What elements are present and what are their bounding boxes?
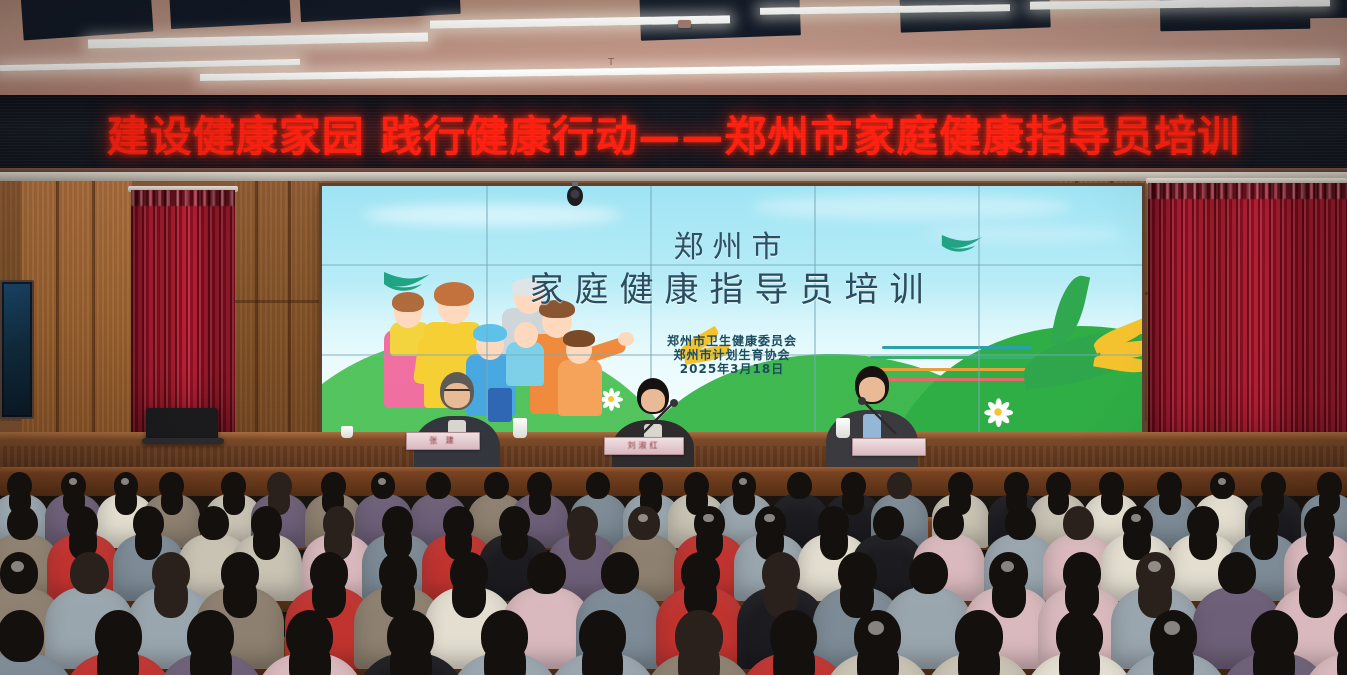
audience-head — [371, 472, 396, 499]
nameplate-center-text: 刘淑红 — [605, 438, 683, 453]
audience-head — [527, 552, 565, 594]
wall-wood-panel — [235, 181, 323, 451]
audience-head — [586, 472, 611, 499]
audience-head — [1063, 506, 1094, 540]
audience-head — [628, 506, 659, 540]
audience-head — [0, 610, 44, 662]
audience-head — [887, 472, 912, 499]
audience-head — [0, 552, 38, 594]
glasses-icon — [444, 389, 470, 397]
audience-member — [1303, 610, 1347, 675]
audience-hair — [97, 642, 139, 675]
audience-hair — [773, 642, 815, 675]
water-cup — [513, 418, 527, 438]
audience-head — [909, 552, 947, 594]
audience-head — [484, 472, 509, 499]
audience-hair — [678, 642, 720, 675]
audience-head — [601, 552, 639, 594]
audience-hair — [582, 642, 624, 675]
ceiling-mark: T — [608, 58, 614, 68]
audience-hair — [958, 642, 1000, 675]
wall-panel-seam — [56, 181, 59, 449]
screen-organizer-block: 郑州市卫生健康委员会 郑州市计划生育协会 2025年3月18日 — [322, 334, 1142, 376]
audience-head — [70, 552, 108, 594]
nameplate-right — [852, 438, 926, 456]
audience-member — [925, 610, 1034, 675]
wall-panel-seam — [255, 181, 258, 449]
audience-head — [1210, 472, 1235, 499]
wall-panel-seam — [288, 181, 291, 449]
audience-hair-tie — [1164, 621, 1180, 634]
audience-hair-tie — [764, 514, 775, 523]
wall-top-rail — [0, 172, 1347, 181]
audience-head — [787, 472, 812, 499]
organizer-line-2: 郑州市计划生育协会 — [322, 348, 1142, 362]
audience-hair-tie — [1148, 561, 1161, 572]
laptop-base — [142, 438, 224, 444]
nameplate-center: 刘淑红 — [604, 437, 684, 455]
audience-member — [645, 610, 754, 675]
led-banner-text: 建设健康家园 践行健康行动——郑州市家庭健康指导员培训 — [0, 103, 1347, 164]
wall-panel-seam — [92, 181, 95, 449]
nameplate-left-text: 张 建 — [407, 433, 479, 448]
audience-head — [7, 506, 38, 540]
audience-member — [548, 610, 657, 675]
audience-hair — [190, 642, 232, 675]
audience-hair — [857, 642, 899, 675]
led-banner: 建设健康家园 践行健康行动——郑州市家庭健康指导员培训 — [0, 95, 1347, 173]
microphone-icon — [636, 398, 680, 438]
curtain-right — [1148, 183, 1347, 473]
nameplate-left: 张 建 — [406, 432, 480, 450]
audience-member — [357, 610, 466, 675]
audience-member — [1025, 610, 1134, 675]
conference-hall-photo: T 建设健康家园 践行健康行动——郑州市家庭健康指导员培训 — [0, 0, 1347, 675]
audience-member — [256, 610, 365, 675]
organizer-line-1: 郑州市卫生健康委员会 — [322, 334, 1142, 348]
audience-hair — [1059, 642, 1101, 675]
water-cup — [836, 418, 850, 438]
audience-hair — [390, 642, 432, 675]
audience-member — [824, 610, 933, 675]
smoke-detector-icon — [678, 20, 691, 28]
audience-head — [933, 506, 964, 540]
audience-hair — [1253, 642, 1295, 675]
ceiling-camera-icon — [566, 182, 584, 208]
audience-head — [1218, 552, 1256, 594]
audience-head — [873, 506, 904, 540]
audience-hair — [289, 642, 331, 675]
audience-hair — [1153, 642, 1195, 675]
audience-member — [1119, 610, 1228, 675]
water-cup — [341, 426, 353, 438]
audience-member — [451, 610, 560, 675]
microphone-icon — [856, 396, 900, 436]
audience-head — [426, 472, 451, 499]
wall-wood-panel — [22, 181, 132, 449]
daisy-flower — [973, 387, 1023, 436]
audience-hair — [484, 642, 526, 675]
screen-title-line1: 郑州市 — [322, 222, 1142, 266]
wall-monitor — [0, 280, 34, 419]
audience-head — [1005, 506, 1036, 540]
laptop — [146, 408, 218, 440]
wall-panel-seam — [235, 300, 323, 303]
audience-head — [198, 506, 229, 540]
audience-member — [157, 610, 266, 675]
screen-title-line2: 家庭健康指导员培训 — [322, 262, 1142, 311]
